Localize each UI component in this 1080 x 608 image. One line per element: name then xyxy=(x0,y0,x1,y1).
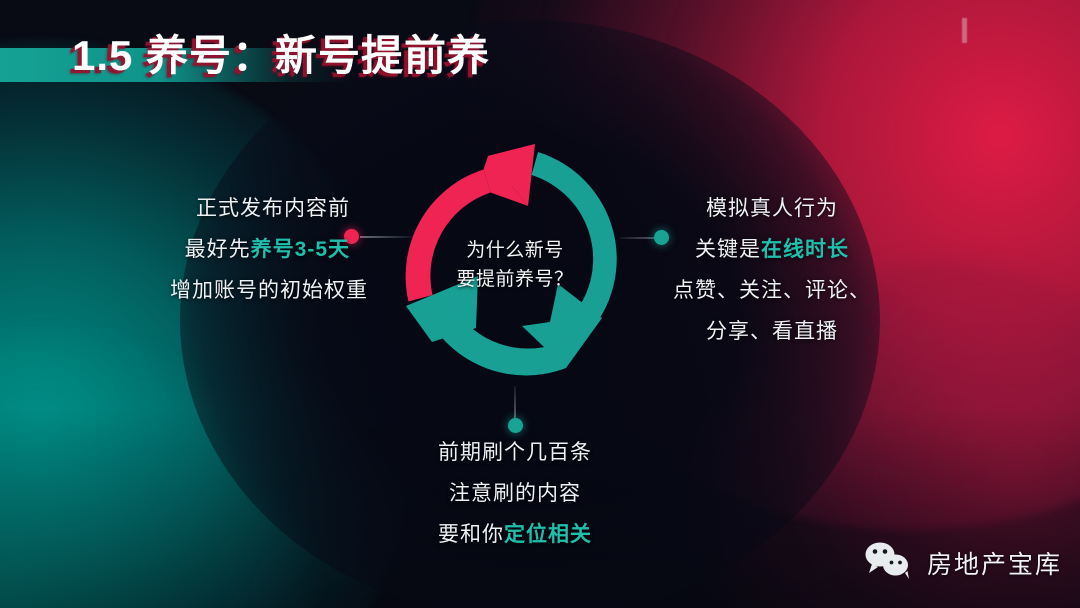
callout-right-line-3-text: 点赞、关注、评论、 xyxy=(673,279,871,302)
light-streak-artifact xyxy=(962,18,967,43)
callout-left-line-3-text: 增加账号的初始权重 xyxy=(170,279,368,302)
connector-dot-bottom xyxy=(508,418,523,433)
callout-left-line-1: 正式发布内容前 xyxy=(170,188,350,229)
watermark-label: 房地产宝库 xyxy=(927,545,1062,581)
callout-right-line-2: 关键是在线时长 xyxy=(672,229,872,270)
callout-left-line-2-text: 最好先 xyxy=(185,238,251,261)
callout-bottom-line-3-text: 要和你 xyxy=(438,523,504,546)
callout-left-line-3: 增加账号的初始权重 xyxy=(170,270,350,311)
watermark: 房地产宝库 xyxy=(862,540,1062,585)
callout-right-line-3: 点赞、关注、评论、 xyxy=(672,270,872,311)
callout-right-line-4-text: 分享、看直播 xyxy=(706,320,838,343)
cycle-center-line-1: 为什么新号 xyxy=(370,236,660,265)
callout-right-line-1-text: 模拟真人行为 xyxy=(706,197,838,220)
callout-left-line-2: 最好先养号3-5天 xyxy=(170,229,350,270)
callout-left-line-2-highlight: 养号3-5天 xyxy=(251,238,350,261)
callout-left: 正式发布内容前 最好先养号3-5天 增加账号的初始权重 xyxy=(170,188,350,311)
callout-right-line-2-text: 关键是 xyxy=(695,238,761,261)
page-title: 1.5 养号：新号提前养 xyxy=(72,22,490,83)
cycle-center-line-2: 要提前养号？ xyxy=(370,265,660,294)
cycle-center-label: 为什么新号 要提前养号？ xyxy=(370,236,660,294)
callout-bottom-line-1: 前期刷个几百条 xyxy=(425,432,605,473)
callout-bottom-line-2: 注意刷的内容 xyxy=(425,473,605,514)
callout-bottom-line-3: 要和你定位相关 xyxy=(425,514,605,555)
callout-bottom-line-2-text: 注意刷的内容 xyxy=(449,482,581,505)
callout-left-line-1-text: 正式发布内容前 xyxy=(196,197,350,220)
callout-bottom: 前期刷个几百条 注意刷的内容 要和你定位相关 xyxy=(425,432,605,555)
callout-bottom-line-1-text: 前期刷个几百条 xyxy=(438,441,592,464)
callout-right: 模拟真人行为 关键是在线时长 点赞、关注、评论、 分享、看直播 xyxy=(672,188,872,352)
callout-right-line-2-highlight: 在线时长 xyxy=(761,238,849,261)
callout-right-line-1: 模拟真人行为 xyxy=(672,188,872,229)
wechat-icon xyxy=(862,540,914,585)
slide-canvas: 1.5 养号：新号提前养 xyxy=(0,0,1080,608)
callout-bottom-line-3-highlight: 定位相关 xyxy=(504,523,592,546)
callout-right-line-4: 分享、看直播 xyxy=(672,311,872,352)
